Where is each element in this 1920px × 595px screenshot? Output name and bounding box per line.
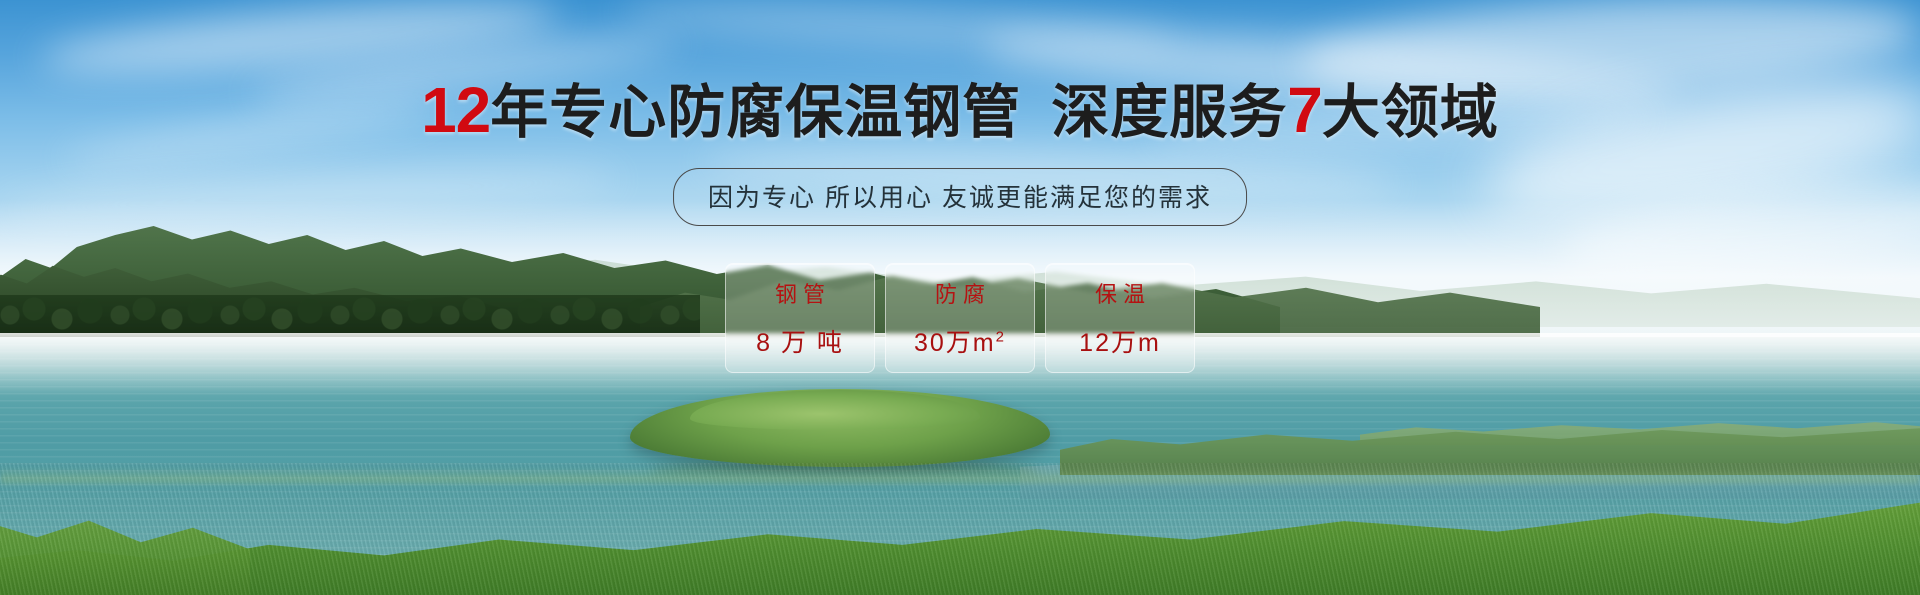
- stat-card-value-text: 8 万 吨: [756, 329, 844, 357]
- stat-card-insulation: 保温 12万m: [1045, 263, 1195, 373]
- stat-card-steel-pipe: 钢管 8 万 吨: [725, 263, 875, 373]
- stat-card-value-text: 12万m: [1079, 329, 1161, 357]
- hero-banner: 12年专心防腐保温钢管深度服务7大领域 因为专心 所以用心 友诚更能满足您的需求…: [0, 0, 1920, 595]
- stat-card-title: 保温: [1089, 277, 1151, 309]
- stat-card-anticorrosion: 防腐 30万m2: [885, 263, 1035, 373]
- stat-card-value-sup: 2: [996, 329, 1006, 346]
- headline-part-one: 年专心防腐保温钢管: [490, 80, 1021, 145]
- banner-headline: 12年专心防腐保温钢管深度服务7大领域: [0, 78, 1920, 142]
- stat-card-title: 钢管: [769, 277, 831, 309]
- headline-years-number: 12: [421, 74, 490, 146]
- stat-card-title: 防腐: [929, 277, 991, 309]
- stat-card-list: 钢管 8 万 吨 防腐 30万m2 保温 12万m: [725, 263, 1195, 373]
- stat-card-value: 30万m2: [914, 323, 1006, 359]
- stat-card-value: 12万m: [1079, 323, 1161, 359]
- headline-part-two: 深度服务: [1051, 80, 1287, 145]
- banner-content: 12年专心防腐保温钢管深度服务7大领域 因为专心 所以用心 友诚更能满足您的需求…: [0, 0, 1920, 595]
- stat-card-value-text: 30万m: [914, 329, 996, 357]
- subtitle-pill: 因为专心 所以用心 友诚更能满足您的需求: [673, 168, 1247, 226]
- headline-part-three: 大领域: [1322, 80, 1499, 145]
- headline-fields-number: 7: [1287, 74, 1322, 146]
- stat-card-value: 8 万 吨: [756, 323, 844, 359]
